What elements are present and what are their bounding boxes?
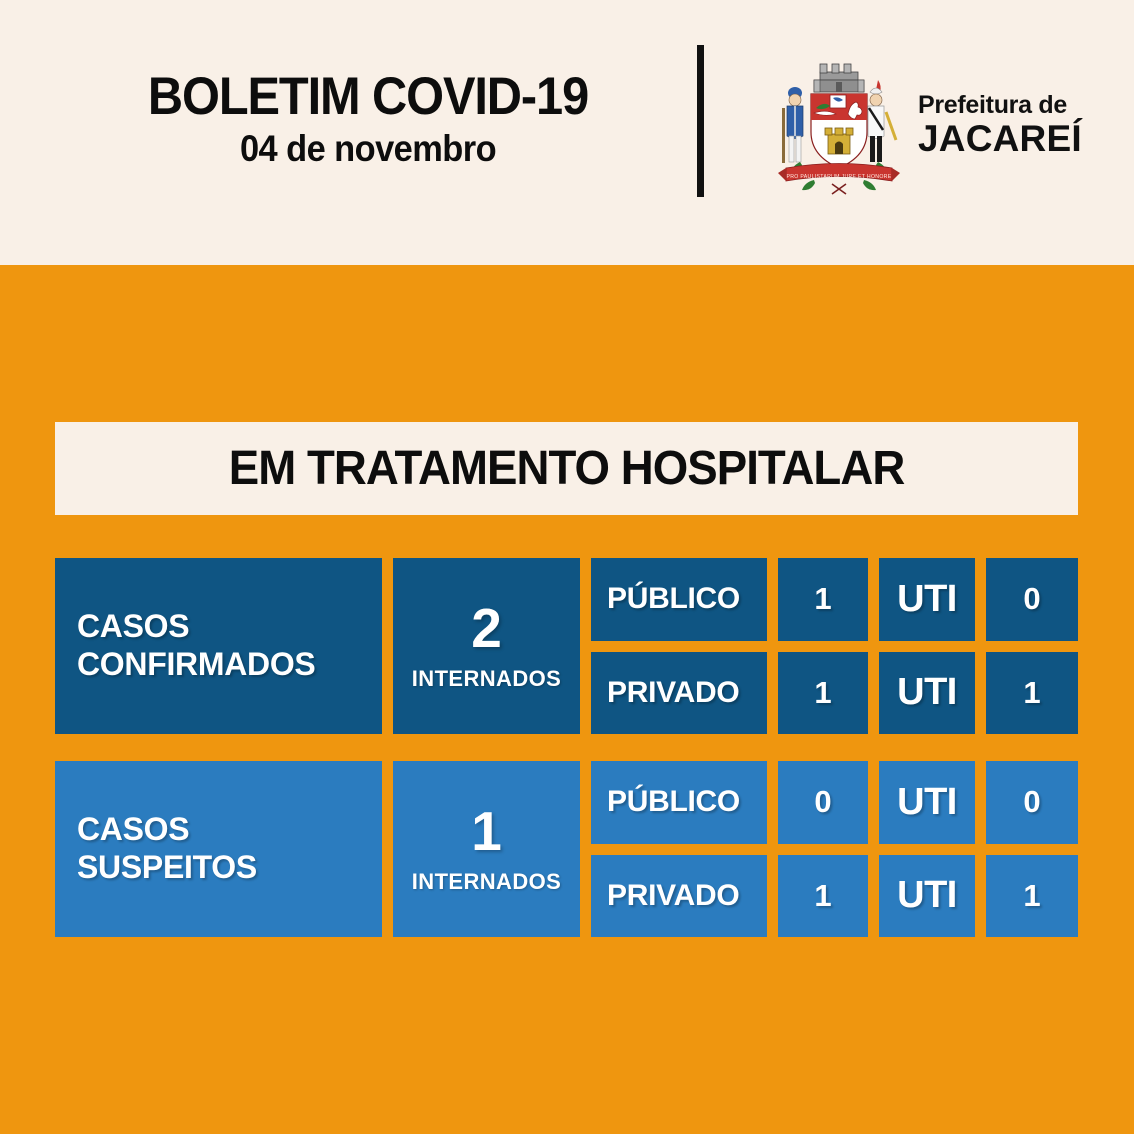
sector-count-publico: 1 — [778, 558, 868, 641]
row-label-line2: SUSPEITOS — [77, 849, 257, 887]
internados-label: INTERNADOS — [412, 666, 561, 692]
section-banner: EM TRATAMENTO HOSPITALAR — [55, 422, 1078, 515]
sector-count-value: 0 — [814, 784, 831, 820]
table-row-confirmed: CASOS CONFIRMADOS 2 INTERNADOS PÚBLICO 1… — [55, 558, 1078, 734]
row-label-confirmed: CASOS CONFIRMADOS — [55, 558, 382, 734]
sector-cell-publico: PÚBLICO — [591, 761, 767, 844]
sector-count-value: 1 — [814, 878, 831, 914]
page-title: BOLETIM COVID-19 — [92, 70, 644, 124]
uti-count-value: 1 — [1023, 675, 1040, 711]
uti-count-cell-privado: 1 — [986, 855, 1078, 938]
bulletin-date: 04 de novembro — [89, 126, 647, 172]
brand-lockup: PRO PAULISTARUM JURE ET HONORE Prefeitur… — [770, 50, 1082, 200]
brand-text: Prefeitura de JACAREÍ — [918, 93, 1082, 157]
title-block: BOLETIM COVID-19 04 de novembro — [68, 70, 668, 172]
uti-count-cell-publico: 0 — [986, 761, 1078, 844]
internados-cell-suspected: 1 INTERNADOS — [393, 761, 580, 937]
sector-cell-privado: PRIVADO — [591, 855, 767, 938]
uti-count-cell-publico: 0 — [986, 558, 1078, 641]
uti-label: UTI — [897, 874, 957, 917]
page-header: BOLETIM COVID-19 04 de novembro — [0, 0, 1134, 265]
sector-label: PRIVADO — [607, 676, 739, 710]
uti-label-cell-privado: UTI — [879, 855, 975, 938]
uti-count-value: 1 — [1023, 878, 1040, 914]
internados-value: 1 — [471, 804, 502, 859]
vertical-divider-icon — [697, 45, 704, 197]
svg-text:PRO PAULISTARUM JURE ET HONORE: PRO PAULISTARUM JURE ET HONORE — [787, 174, 892, 180]
sector-cell-publico: PÚBLICO — [591, 558, 767, 641]
sector-count-value: 1 — [814, 581, 831, 617]
sector-count-privado: 1 — [778, 652, 868, 735]
row-label-line2: CONFIRMADOS — [77, 646, 315, 684]
sector-label: PÚBLICO — [607, 785, 740, 819]
sector-cell-privado: PRIVADO — [591, 652, 767, 735]
sector-subgrid-suspected: PÚBLICO 0 UTI 0 PRIVADO 1 UTI 1 — [591, 761, 1078, 937]
table-row-suspected: CASOS SUSPEITOS 1 INTERNADOS PÚBLICO 0 U… — [55, 761, 1078, 937]
uti-label: UTI — [897, 578, 957, 621]
row-label-suspected: CASOS SUSPEITOS — [55, 761, 382, 937]
uti-count-value: 0 — [1023, 581, 1040, 617]
sector-label: PRIVADO — [607, 879, 739, 913]
section-title: EM TRATAMENTO HOSPITALAR — [229, 441, 905, 496]
sector-subgrid-confirmed: PÚBLICO 1 UTI 0 PRIVADO 1 UTI 1 — [591, 558, 1078, 734]
subrow-privado-confirmed: PRIVADO 1 UTI 1 — [591, 652, 1078, 735]
row-label-line1: CASOS — [77, 811, 257, 849]
uti-count-value: 0 — [1023, 784, 1040, 820]
subrow-publico-suspected: PÚBLICO 0 UTI 0 — [591, 761, 1078, 844]
uti-label-cell-privado: UTI — [879, 652, 975, 735]
internados-cell-confirmed: 2 INTERNADOS — [393, 558, 580, 734]
brand-city-name: JACAREÍ — [918, 120, 1082, 157]
uti-label-cell-publico: UTI — [879, 761, 975, 844]
brand-prefeitura-label: Prefeitura de — [918, 93, 1082, 118]
internados-value: 2 — [471, 601, 502, 656]
jacarei-coat-of-arms-icon: PRO PAULISTARUM JURE ET HONORE — [770, 50, 908, 200]
uti-label: UTI — [897, 671, 957, 714]
row-label-line1: CASOS — [77, 608, 315, 646]
sector-label: PÚBLICO — [607, 582, 740, 616]
internados-label: INTERNADOS — [412, 869, 561, 895]
subrow-privado-suspected: PRIVADO 1 UTI 1 — [591, 855, 1078, 938]
sector-count-privado: 1 — [778, 855, 868, 938]
uti-count-cell-privado: 1 — [986, 652, 1078, 735]
sector-count-publico: 0 — [778, 761, 868, 844]
uti-label-cell-publico: UTI — [879, 558, 975, 641]
sector-count-value: 1 — [814, 675, 831, 711]
subrow-publico-confirmed: PÚBLICO 1 UTI 0 — [591, 558, 1078, 641]
uti-label: UTI — [897, 781, 957, 824]
